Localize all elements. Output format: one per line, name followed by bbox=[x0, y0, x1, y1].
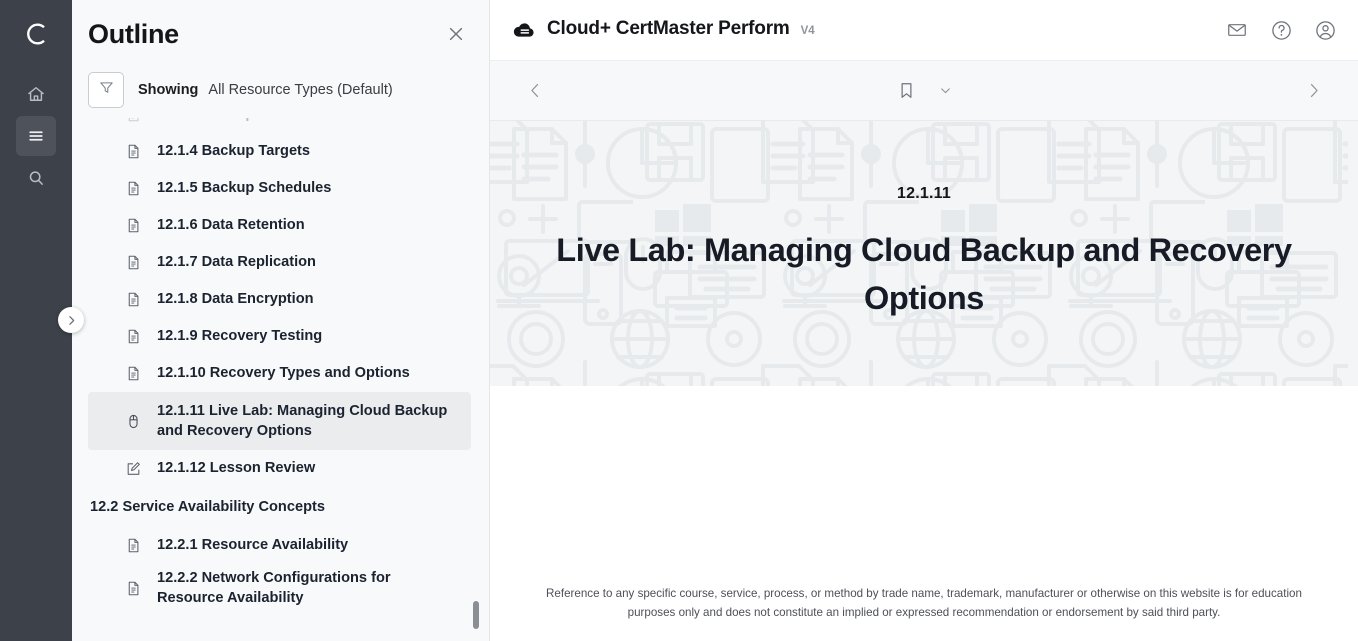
filter-funnel-icon bbox=[98, 79, 115, 101]
document-icon bbox=[124, 143, 142, 161]
outline-item-label: 12.1.7 Data Replication bbox=[157, 252, 316, 272]
app-header: Cloud+ CertMaster Perform V4 bbox=[490, 0, 1358, 60]
version-badge: V4 bbox=[801, 25, 815, 37]
filter-button[interactable] bbox=[88, 72, 124, 108]
outline-item[interactable]: 12.1.5 Backup Schedules bbox=[72, 170, 489, 207]
brand-name: Cloud+ CertMaster Perform bbox=[547, 18, 790, 40]
sidebar-item-home[interactable] bbox=[16, 74, 56, 114]
expand-panel-button[interactable] bbox=[58, 307, 84, 333]
showing-label: Showing bbox=[138, 82, 198, 98]
filter-row: Showing All Resource Types (Default) bbox=[72, 68, 489, 118]
page-title: Outline bbox=[88, 19, 443, 50]
lesson-number: 12.1.11 bbox=[897, 185, 951, 203]
close-icon[interactable] bbox=[443, 21, 469, 47]
outline-item-label: 12.1.8 Data Encryption bbox=[157, 289, 314, 309]
account-circle-icon[interactable] bbox=[1312, 17, 1338, 43]
main-content: Cloud+ CertMaster Perform V4 bbox=[490, 0, 1358, 641]
outline-item-label: 12.2.2 Network Configurations for Resour… bbox=[157, 568, 459, 608]
outline-item-label: 12.1.5 Backup Schedules bbox=[157, 178, 331, 198]
c-logo-icon[interactable] bbox=[18, 16, 54, 52]
mouse-lab-icon bbox=[124, 412, 142, 430]
outline-item-selected[interactable]: 12.1.11 Live Lab: Managing Cloud Backup … bbox=[88, 392, 471, 450]
document-icon bbox=[124, 291, 142, 309]
outline-item[interactable]: 12.1.9 Recovery Testing bbox=[72, 318, 489, 355]
outline-list-items: 12.1.3 Backup Locations12.1.4 Backup Tar… bbox=[72, 118, 489, 612]
outline-item-label: 12.1.3 Backup Locations bbox=[157, 118, 327, 125]
help-circle-icon[interactable] bbox=[1268, 17, 1294, 43]
footer: Reference to any specific course, servic… bbox=[490, 585, 1358, 641]
outline-list: 12.1.3 Backup Locations12.1.4 Backup Tar… bbox=[72, 118, 489, 641]
cloud-server-icon bbox=[512, 18, 536, 42]
app-root: Outline Showing All Resource Types (Defa… bbox=[0, 0, 1358, 641]
outline-scrollbar-thumb[interactable] bbox=[473, 601, 479, 629]
outline-item-label: 12.1.9 Recovery Testing bbox=[157, 326, 322, 346]
outline-item[interactable]: 12.2.2 Network Configurations for Resour… bbox=[72, 564, 489, 612]
chevron-down-icon[interactable] bbox=[939, 84, 952, 97]
outline-item-label: 12.1.6 Data Retention bbox=[157, 215, 305, 235]
outline-item[interactable]: 12.1.3 Backup Locations bbox=[72, 118, 489, 133]
outline-item[interactable]: 12.1.8 Data Encryption bbox=[72, 281, 489, 318]
outline-item[interactable]: 12.2.1 Resource Availability bbox=[72, 527, 489, 564]
bookmark-icon[interactable] bbox=[896, 80, 917, 101]
footer-disclaimer: Reference to any specific course, servic… bbox=[524, 585, 1324, 623]
outline-section-header[interactable]: 12.2 Service Availability Concepts bbox=[72, 487, 489, 527]
header-icon-group bbox=[1224, 17, 1338, 43]
brand: Cloud+ CertMaster Perform V4 bbox=[512, 18, 1224, 42]
outline-item-label: 12.1.4 Backup Targets bbox=[157, 141, 310, 161]
outline-item-label: 12.2 Service Availability Concepts bbox=[90, 497, 325, 517]
outline-panel: Outline Showing All Resource Types (Defa… bbox=[72, 0, 490, 641]
lesson-body bbox=[490, 386, 1358, 585]
showing-value[interactable]: All Resource Types (Default) bbox=[208, 82, 392, 98]
outline-item-label: 12.1.10 Recovery Types and Options bbox=[157, 363, 410, 383]
outline-item[interactable]: 12.1.12 Lesson Review bbox=[72, 450, 489, 487]
document-icon bbox=[124, 180, 142, 198]
document-icon bbox=[124, 579, 142, 597]
sidebar-item-search[interactable] bbox=[16, 158, 56, 198]
document-icon bbox=[124, 217, 142, 235]
outline-item-label: 12.1.12 Lesson Review bbox=[157, 458, 315, 478]
outline-item-label: 12.2.1 Resource Availability bbox=[157, 535, 348, 555]
outline-item[interactable]: 12.1.7 Data Replication bbox=[72, 244, 489, 281]
outline-item[interactable]: 12.1.6 Data Retention bbox=[72, 207, 489, 244]
outline-item[interactable]: 12.1.4 Backup Targets bbox=[72, 133, 489, 170]
lesson-hero: 12.1.11 Live Lab: Managing Cloud Backup … bbox=[490, 121, 1358, 386]
outline-scrollbar[interactable] bbox=[478, 110, 484, 637]
bookmark-group bbox=[490, 80, 1358, 101]
next-page-button[interactable] bbox=[1298, 76, 1328, 106]
document-icon bbox=[124, 537, 142, 555]
document-icon bbox=[124, 328, 142, 346]
sidebar-item-outline[interactable] bbox=[16, 116, 56, 156]
lesson-title: Live Lab: Managing Cloud Backup and Reco… bbox=[529, 227, 1319, 322]
pencil-review-icon bbox=[124, 460, 142, 478]
outline-header: Outline bbox=[72, 0, 489, 68]
document-icon bbox=[124, 118, 142, 124]
mail-icon[interactable] bbox=[1224, 17, 1250, 43]
outline-item[interactable]: 12.1.10 Recovery Types and Options bbox=[72, 355, 489, 392]
outline-item-label: 12.1.11 Live Lab: Managing Cloud Backup … bbox=[157, 401, 457, 441]
document-icon bbox=[124, 365, 142, 383]
lesson-nav-bar bbox=[490, 60, 1358, 121]
document-icon bbox=[124, 254, 142, 272]
prev-page-button[interactable] bbox=[520, 76, 550, 106]
